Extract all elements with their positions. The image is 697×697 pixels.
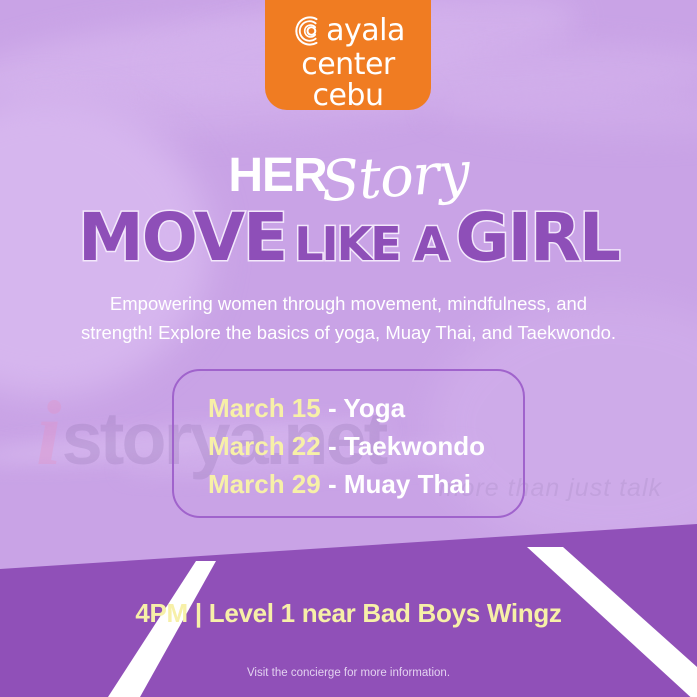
schedule-activity: - Muay Thai <box>328 465 471 503</box>
footer-note: Visit the concierge for more information… <box>0 666 697 680</box>
logo-line-center: center <box>265 49 431 80</box>
her-story-heading: HER Story <box>0 146 697 206</box>
logo-primary-line: ayala <box>265 13 431 49</box>
schedule-row: March 22 - Taekwondo <box>174 427 523 465</box>
cloud-shape <box>429 80 697 141</box>
poster-canvas: i storya.net more than just talk ayala c… <box>0 0 697 697</box>
schedule-row: March 15 - Yoga <box>174 389 523 427</box>
schedule-activity: - Taekwondo <box>328 427 485 465</box>
footer-time-location: 4PM | Level 1 near Bad Boys Wingz <box>0 598 697 628</box>
logo-line-cebu: cebu <box>265 80 431 111</box>
heading-story-script: Story <box>319 148 470 208</box>
schedule-date: March 22 <box>208 427 328 465</box>
description-line-1: Empowering women through movement, mindf… <box>42 289 655 318</box>
main-headline: MOVE LIKE A GIRL <box>0 203 697 277</box>
schedule-box: March 15 - Yoga March 22 - Taekwondo Mar… <box>172 369 525 518</box>
schedule-row: March 29 - Muay Thai <box>174 465 523 503</box>
description-text: Empowering women through movement, mindf… <box>42 289 655 347</box>
schedule-date: March 15 <box>208 389 328 427</box>
schedule-date: March 29 <box>208 465 328 503</box>
logo-line-ayala: ayala <box>326 15 405 47</box>
headline-word-like-a: LIKE A <box>294 209 447 279</box>
description-line-2: strength! Explore the basics of yoga, Mu… <box>42 318 655 347</box>
schedule-activity: - Yoga <box>328 389 405 427</box>
heading-her: HER <box>228 151 326 201</box>
headline-word-move: MOVE <box>78 203 286 273</box>
ayala-spiral-icon <box>291 14 325 48</box>
headline-word-girl: GIRL <box>455 203 619 273</box>
ayala-center-cebu-logo: ayala center cebu <box>265 0 431 110</box>
